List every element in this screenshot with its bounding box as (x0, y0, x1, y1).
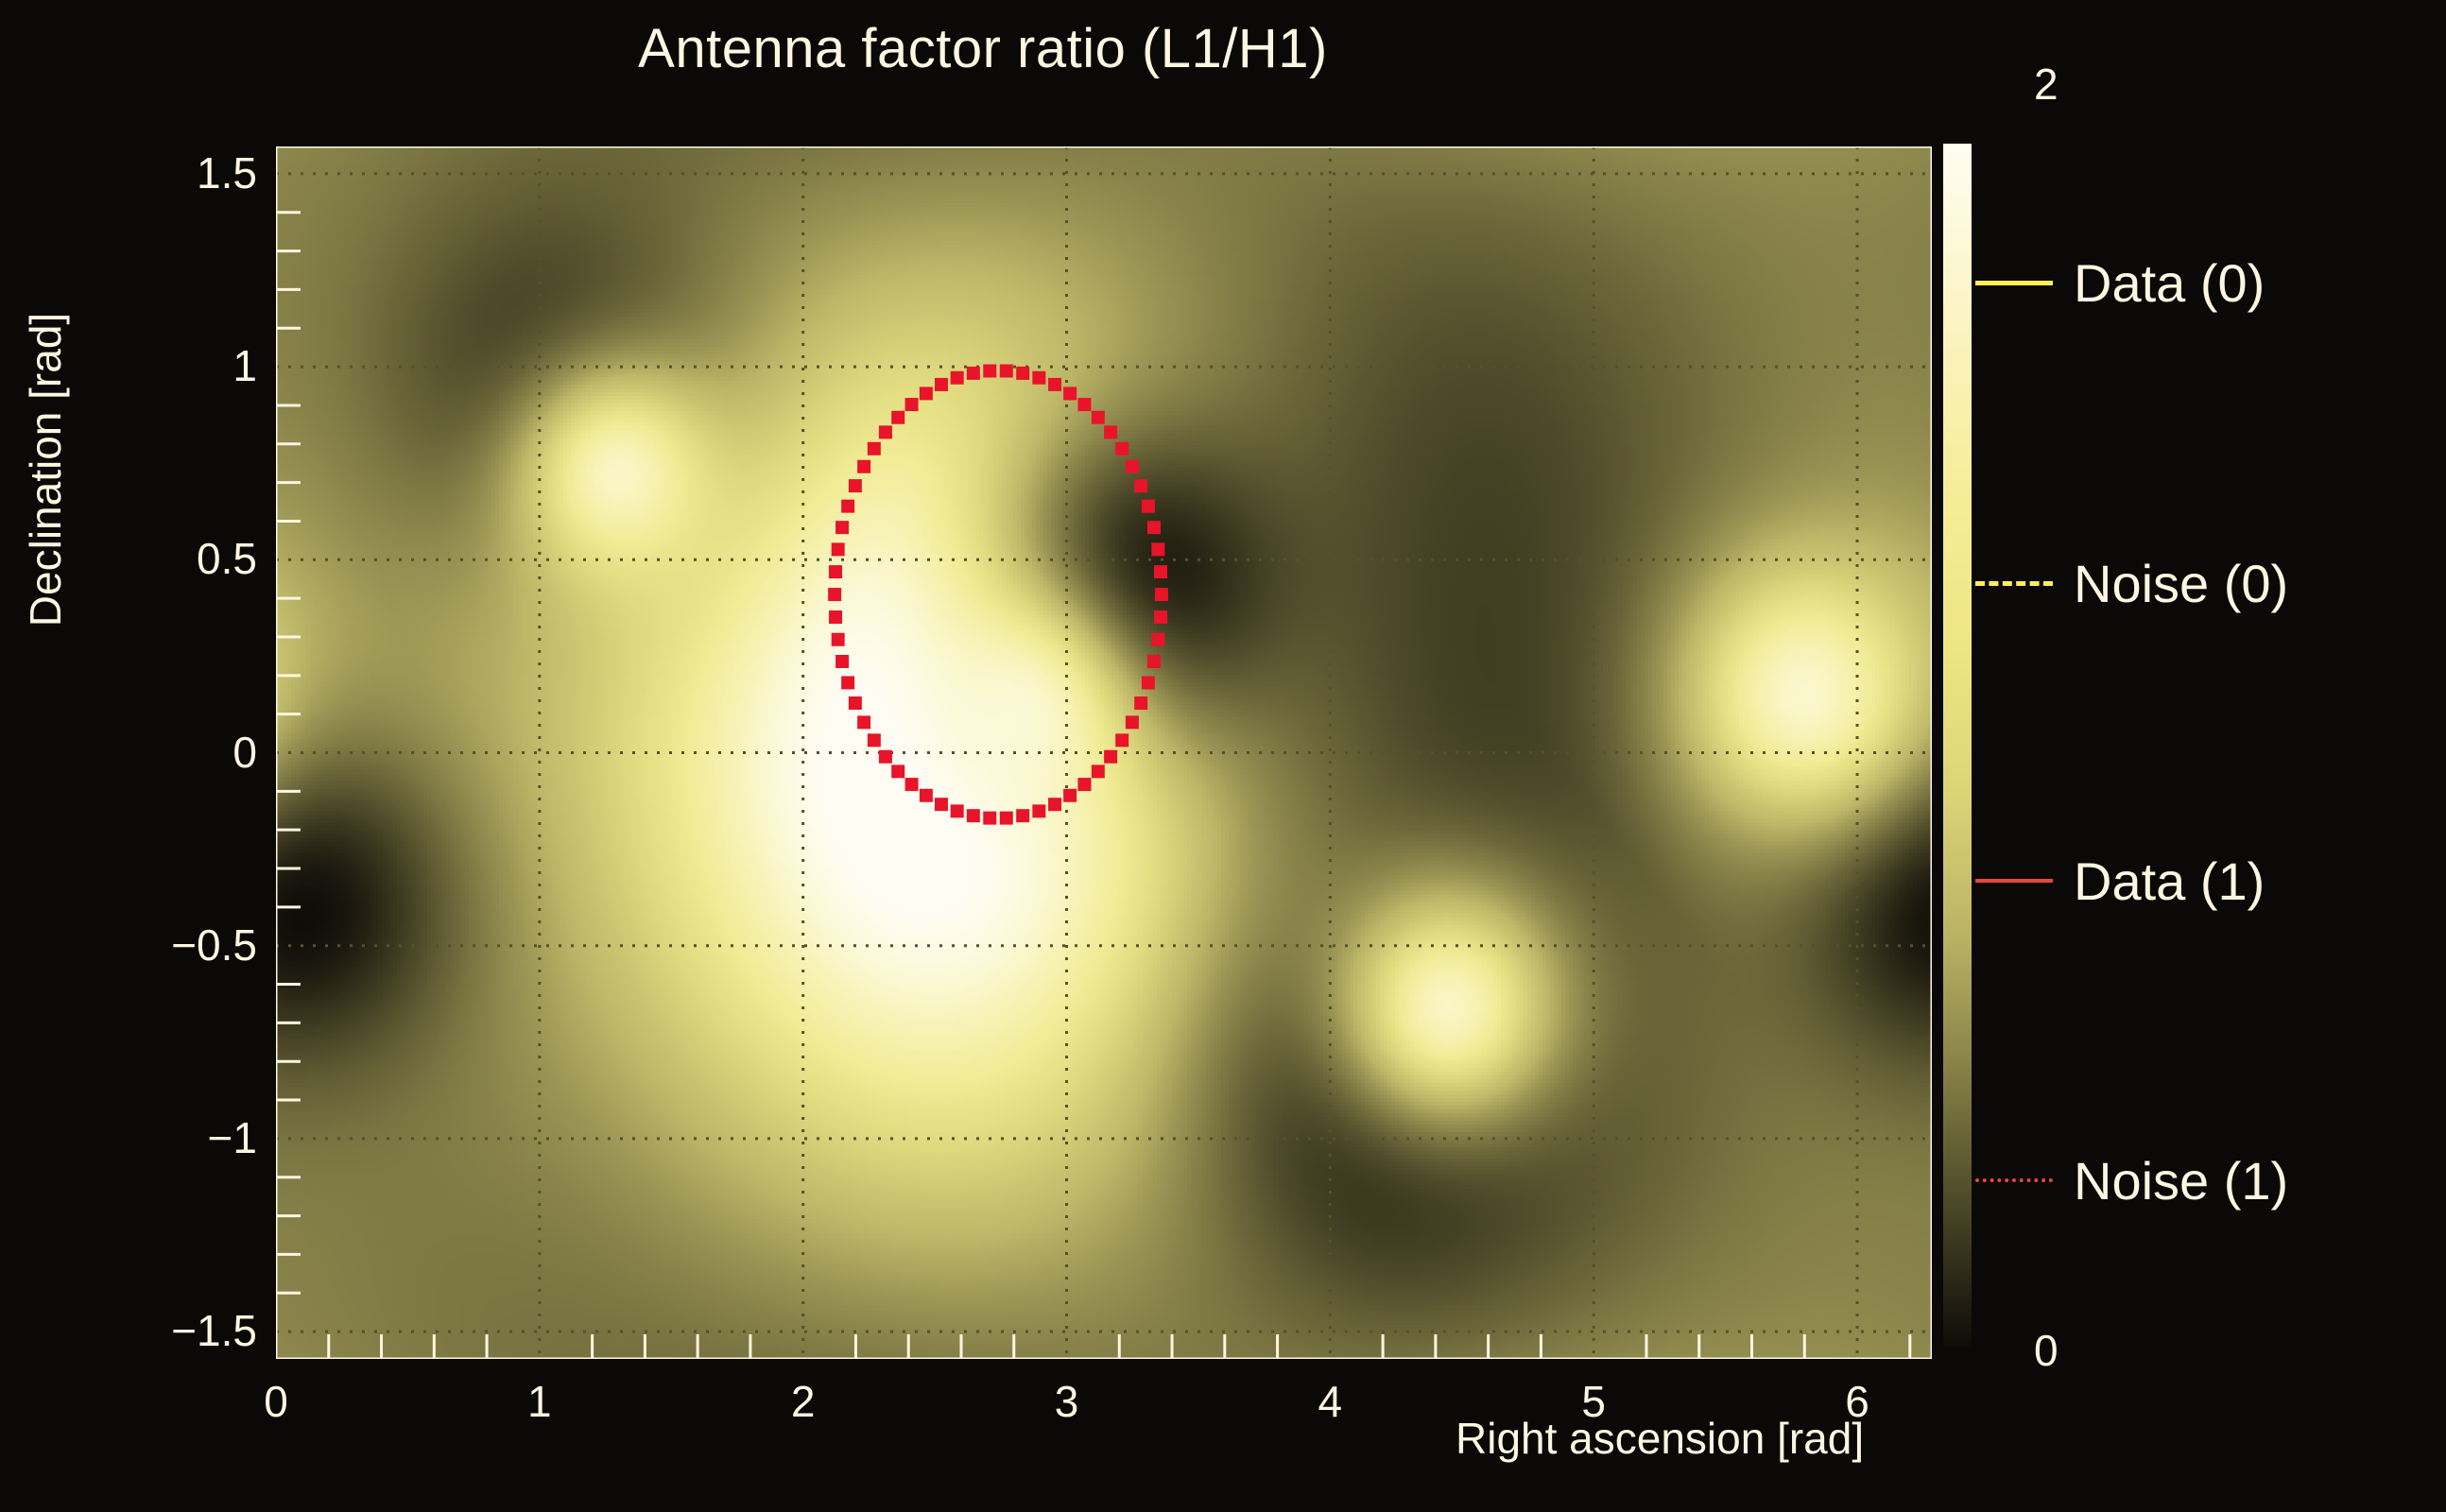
y-tick-label: 0 (40, 727, 257, 778)
x-tick-label: 2 (709, 1376, 898, 1427)
y-tick-label: 1.5 (40, 147, 257, 198)
legend: Data (0)Noise (0)Data (1)Noise (1) (1975, 151, 2446, 1361)
x-tick-label: 1 (445, 1376, 634, 1427)
legend-item[interactable]: Noise (0) (1975, 548, 2288, 618)
y-tick-label: 1 (40, 340, 257, 391)
legend-item-label: Data (0) (2074, 252, 2265, 314)
y-axis-title: Declination [rad] (20, 205, 71, 734)
inner-tick-marks (276, 213, 1910, 1359)
legend-line-swatch (1975, 879, 2053, 883)
y-tick-label: 0.5 (40, 533, 257, 584)
legend-line-swatch (1975, 1178, 2053, 1182)
chart-title: Antenna factor ratio (L1/H1) (0, 17, 1966, 80)
y-tick-label: −1.5 (40, 1305, 257, 1356)
legend-item[interactable]: Data (0) (1975, 248, 2265, 318)
x-axis-title: Right ascension [rad] (1456, 1413, 1864, 1464)
heatmap-plot-area[interactable] (276, 146, 1932, 1359)
legend-line-swatch (1975, 281, 2053, 285)
x-tick-label: 0 (181, 1376, 370, 1427)
sky-localization-contour (828, 364, 1168, 824)
legend-item-label: Data (1) (2074, 850, 2265, 912)
figure-canvas: Antenna factor ratio (L1/H1) 1.510.50−0.… (0, 0, 2446, 1512)
legend-item-label: Noise (1) (2074, 1150, 2288, 1211)
legend-line-swatch (1975, 581, 2053, 586)
x-tick-label: 4 (1235, 1376, 1424, 1427)
colorbar[interactable] (1943, 144, 1972, 1348)
y-tick-label: −1 (40, 1112, 257, 1163)
x-tick-label: 3 (973, 1376, 1162, 1427)
legend-item-label: Noise (0) (2074, 553, 2288, 614)
legend-item[interactable]: Noise (1) (1975, 1145, 2288, 1215)
legend-item[interactable]: Data (1) (1975, 846, 2265, 916)
plot-overlay (276, 146, 1932, 1359)
colorbar-max-label: 2 (2034, 59, 2058, 110)
y-tick-label: −0.5 (40, 919, 257, 971)
gridlines (276, 146, 1932, 1359)
